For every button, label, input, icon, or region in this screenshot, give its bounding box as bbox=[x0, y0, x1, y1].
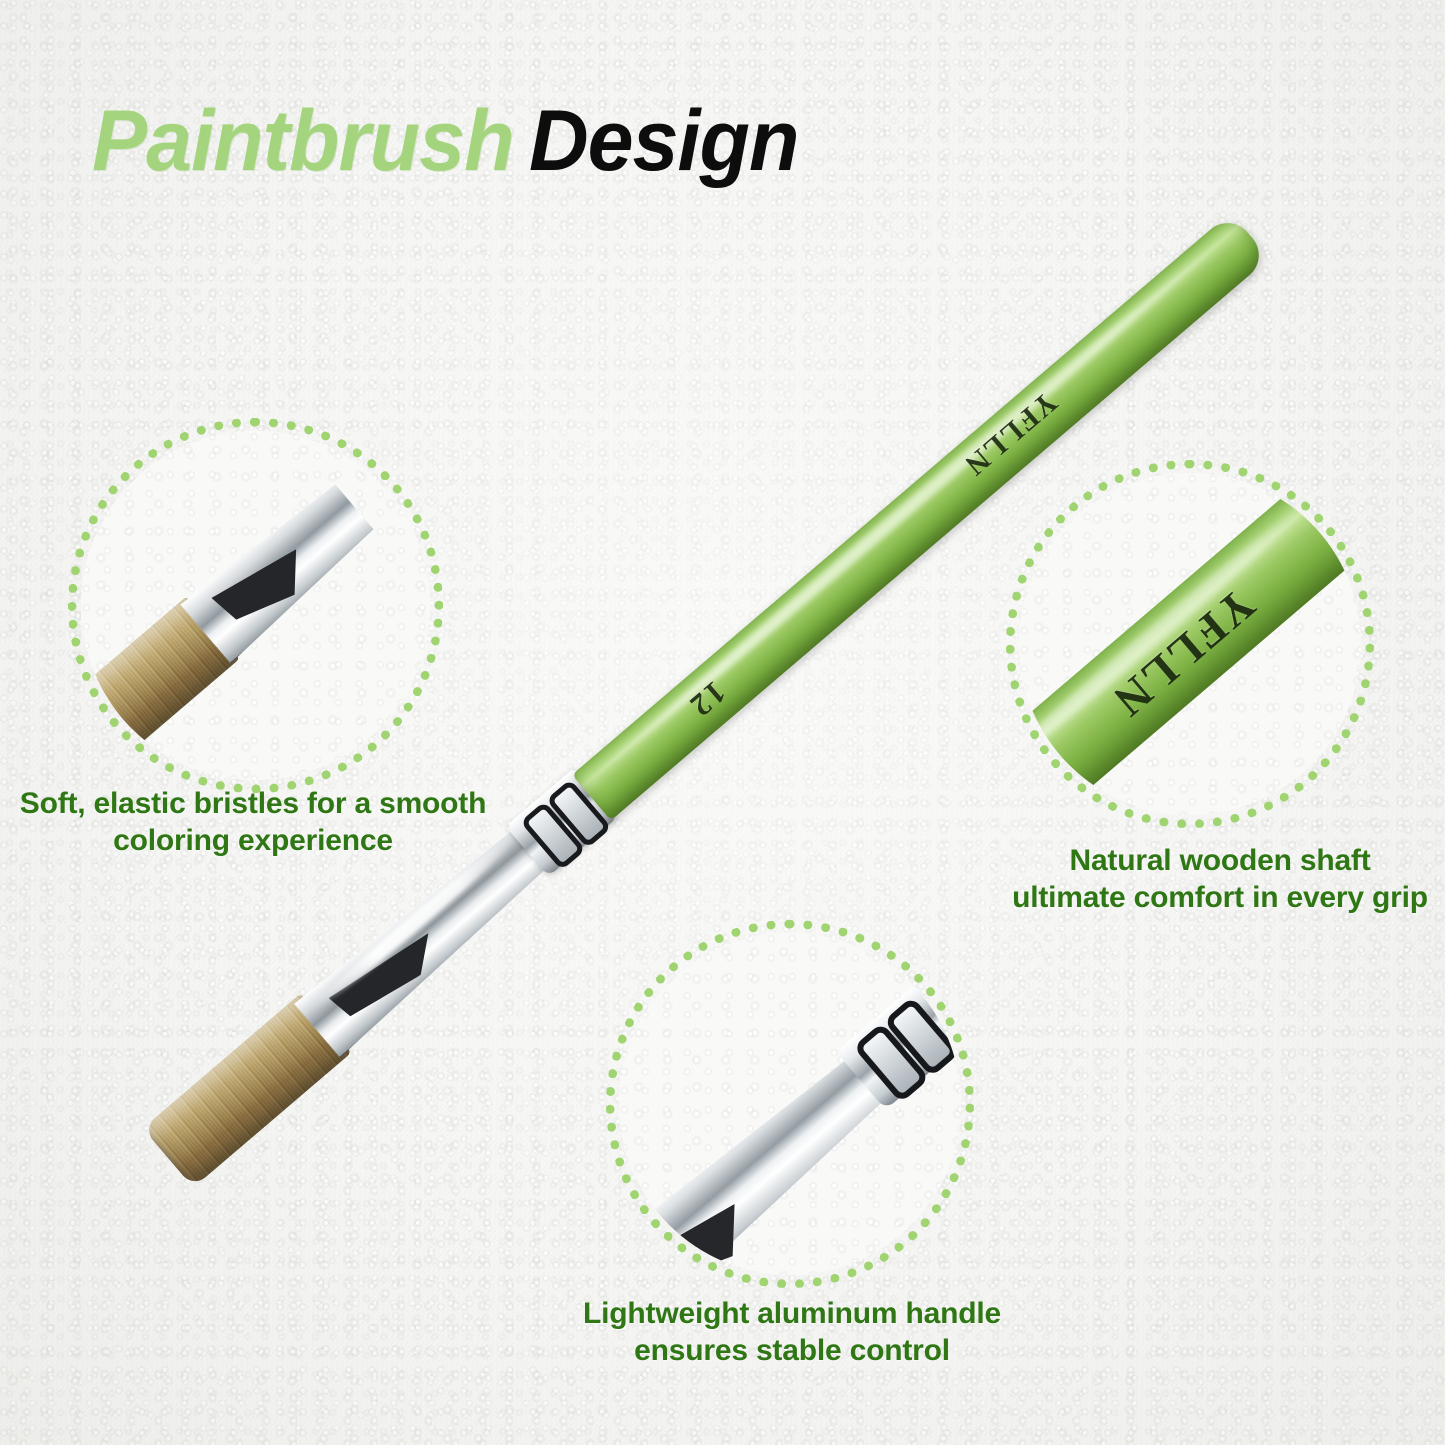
caption-bristles: Soft, elastic bristles for a smooth colo… bbox=[14, 786, 492, 860]
caption-shaft-line1: Natural wooden shaft bbox=[1000, 843, 1440, 880]
dotted-ring-bristles bbox=[68, 418, 443, 793]
caption-shaft: Natural wooden shaft ultimate comfort in… bbox=[1000, 843, 1440, 917]
dotted-ring-handle bbox=[606, 920, 974, 1288]
callout-circle-handle bbox=[606, 920, 974, 1288]
caption-shaft-line2: ultimate comfort in every grip bbox=[1000, 880, 1440, 917]
callout-circle-bristles bbox=[68, 418, 443, 793]
product-infographic: PaintbrushDesign 12 YFLLN Soft, elastic … bbox=[0, 0, 1445, 1445]
caption-bristles-line1: Soft, elastic bristles for a smooth bbox=[14, 786, 492, 823]
caption-handle-line1: Lightweight aluminum handle bbox=[578, 1296, 1006, 1333]
page-title: PaintbrushDesign bbox=[92, 98, 798, 184]
caption-bristles-line2: coloring experience bbox=[14, 823, 492, 860]
caption-handle-line2: ensures stable control bbox=[578, 1333, 1006, 1370]
title-dark-word: Design bbox=[529, 93, 799, 189]
caption-handle: Lightweight aluminum handle ensures stab… bbox=[578, 1296, 1006, 1370]
callout-circle-shaft: YFLLN bbox=[1006, 460, 1374, 828]
dotted-ring-shaft bbox=[1006, 460, 1374, 828]
title-accent-word: Paintbrush bbox=[92, 93, 514, 189]
